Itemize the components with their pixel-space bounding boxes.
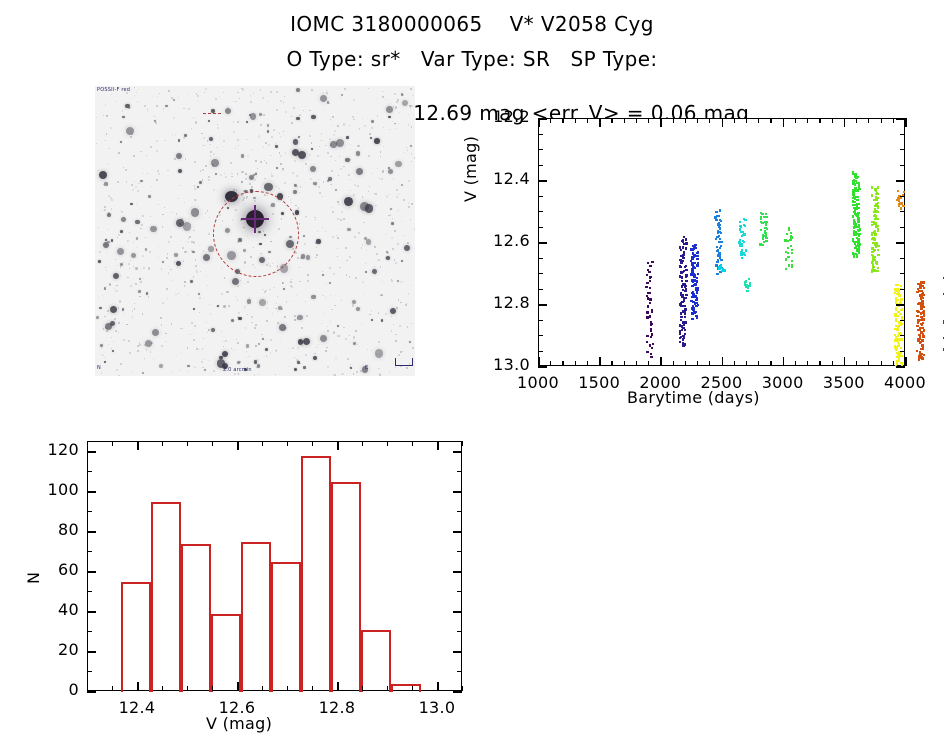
- sky-noise-pixel: [245, 327, 247, 329]
- lightcurve-xtick-minor-top: [697, 118, 698, 123]
- lightcurve-data-point: [721, 270, 723, 272]
- lightcurve-xtick-minor: [575, 361, 576, 366]
- sky-noise-pixel: [414, 157, 415, 158]
- field-star: [401, 260, 403, 262]
- sky-noise-pixel: [208, 233, 210, 235]
- sky-noise-pixel: [277, 322, 279, 324]
- sky-noise-pixel: [115, 101, 116, 102]
- sky-noise-pixel: [256, 176, 257, 177]
- lightcurve-data-point: [923, 287, 925, 289]
- sky-noise-pixel: [363, 222, 365, 224]
- lightcurve-ytick-minor-right: [900, 165, 905, 166]
- sky-noise-pixel: [138, 89, 139, 90]
- lightcurve-data-point: [877, 249, 879, 251]
- sky-noise-pixel: [223, 92, 225, 94]
- lightcurve-xtick-minor: [746, 361, 747, 366]
- lightcurve-data-point: [685, 294, 687, 296]
- sky-noise-pixel: [205, 213, 206, 214]
- sky-noise-pixel: [113, 327, 114, 328]
- field-star: [335, 189, 337, 191]
- lightcurve-data-point: [696, 255, 698, 257]
- sky-noise-pixel: [331, 170, 333, 172]
- sky-noise-pixel: [182, 247, 184, 249]
- sky-noise-pixel: [104, 209, 106, 211]
- sky-noise-pixel: [170, 236, 172, 238]
- sky-noise-pixel: [118, 375, 120, 376]
- field-star: [371, 120, 373, 122]
- field-star: [208, 246, 213, 251]
- sky-noise-pixel: [370, 130, 371, 131]
- lightcurve-xtick-minor-top: [673, 118, 674, 123]
- lightcurve-ytick-minor-right: [900, 149, 905, 150]
- sky-noise-pixel: [249, 183, 251, 185]
- field-star: [117, 248, 124, 255]
- field-star: [350, 367, 352, 369]
- lightcurve-xtick-minor-top: [636, 118, 637, 123]
- sky-noise-pixel: [135, 186, 137, 188]
- lightcurve-data-point: [694, 267, 696, 269]
- lightcurve-data-point: [899, 294, 901, 296]
- field-star: [142, 372, 144, 374]
- sky-noise-pixel: [398, 354, 400, 356]
- sky-noise-pixel: [280, 136, 281, 137]
- sky-noise-pixel: [408, 206, 410, 208]
- lightcurve-data-point: [871, 271, 873, 273]
- field-star: [375, 349, 384, 358]
- sky-noise-pixel: [408, 124, 410, 126]
- sky-noise-pixel: [131, 184, 133, 186]
- sky-noise-pixel: [414, 228, 415, 230]
- sky-noise-pixel: [341, 211, 343, 213]
- sky-noise-pixel: [187, 295, 188, 296]
- lightcurve-data-point: [877, 211, 879, 213]
- sky-noise-pixel: [251, 322, 252, 323]
- sky-noise-pixel: [284, 182, 285, 183]
- field-star: [178, 139, 180, 141]
- sky-noise-pixel: [394, 259, 396, 261]
- sky-noise-pixel: [209, 304, 210, 305]
- lightcurve-data-point: [922, 339, 924, 341]
- sky-noise-pixel: [357, 344, 358, 345]
- sky-noise-pixel: [270, 155, 271, 156]
- lightcurve-data-point: [922, 306, 924, 308]
- sky-noise-pixel: [380, 151, 382, 153]
- field-star: [313, 182, 317, 186]
- field-star: [193, 308, 195, 310]
- sky-noise-pixel: [280, 100, 282, 102]
- lightcurve-data-point: [719, 209, 721, 211]
- sky-noise-pixel: [146, 349, 148, 351]
- lightcurve-data-point: [875, 193, 877, 195]
- field-star: [203, 254, 210, 261]
- sky-noise-pixel: [387, 196, 389, 198]
- sky-noise-pixel: [391, 237, 393, 239]
- field-star: [386, 251, 388, 253]
- lightcurve-data-point: [761, 222, 763, 224]
- sky-noise-pixel: [369, 186, 370, 187]
- sky-noise-pixel: [396, 318, 397, 319]
- sky-noise-pixel: [145, 237, 147, 239]
- sky-noise-pixel: [322, 295, 324, 297]
- histogram-xtick-minor: [387, 686, 388, 691]
- sky-noise-pixel: [292, 347, 294, 349]
- field-star: [259, 113, 262, 116]
- sky-noise-pixel: [406, 303, 407, 304]
- field-star: [298, 151, 306, 159]
- sky-noise-pixel: [394, 230, 396, 232]
- field-star: [238, 317, 241, 320]
- sky-noise-pixel: [102, 210, 103, 211]
- lightcurve-data-point: [685, 288, 687, 290]
- sky-noise-pixel: [307, 280, 308, 281]
- lightcurve-xtick-minor: [893, 361, 894, 366]
- lightcurve-data-point: [877, 245, 879, 247]
- sky-noise-pixel: [297, 347, 299, 349]
- lightcurve-data-point: [691, 262, 693, 264]
- sky-noise-pixel: [148, 267, 150, 269]
- histogram-xtick-minor: [312, 686, 313, 691]
- lightcurve-data-point: [650, 324, 652, 326]
- sky-noise-pixel: [153, 359, 154, 360]
- sky-noise-pixel: [201, 359, 202, 360]
- sky-noise-pixel: [368, 155, 370, 157]
- lightcurve-data-point: [745, 249, 747, 251]
- lightcurve-data-point: [871, 187, 873, 189]
- field-star: [258, 343, 260, 345]
- sky-noise-pixel: [204, 358, 206, 360]
- lightcurve-ytick-major-right: [896, 118, 905, 120]
- sky-noise-pixel: [207, 140, 209, 142]
- sky-noise-pixel: [108, 148, 109, 149]
- lightcurve-data-point: [760, 229, 762, 231]
- lightcurve-data-point: [680, 272, 682, 274]
- sky-noise-pixel: [375, 193, 377, 195]
- sky-noise-pixel: [125, 169, 127, 171]
- lightcurve-ytick-major: [538, 180, 547, 182]
- field-star: [329, 282, 331, 284]
- sky-noise-pixel: [103, 328, 105, 330]
- field-star: [241, 154, 244, 157]
- lightcurve-data-point: [649, 276, 651, 278]
- lightcurve-xtick-label: 1500: [573, 373, 625, 392]
- sky-noise-pixel: [246, 351, 247, 352]
- lightcurve-xtick-major: [599, 357, 601, 366]
- lightcurve-xtick-label: 1000: [512, 373, 564, 392]
- sky-noise-pixel: [238, 145, 240, 147]
- sky-noise-pixel: [348, 174, 350, 176]
- lightcurve-data-point: [691, 285, 693, 287]
- lightcurve-data-point: [746, 290, 748, 292]
- lightcurve-data-point: [650, 329, 652, 331]
- sky-noise-pixel: [254, 374, 256, 376]
- sky-noise-pixel: [117, 237, 118, 238]
- sky-noise-pixel: [184, 285, 186, 287]
- sky-noise-pixel: [329, 267, 331, 269]
- sky-noise-pixel: [255, 160, 256, 161]
- sky-noise-pixel: [161, 345, 163, 347]
- field-star: [131, 253, 136, 258]
- sky-noise-pixel: [396, 307, 398, 309]
- sky-noise-pixel: [210, 313, 212, 315]
- sky-noise-pixel: [246, 357, 247, 358]
- sky-noise-pixel: [378, 341, 380, 343]
- field-star: [346, 136, 349, 139]
- sky-noise-pixel: [265, 142, 267, 144]
- sky-noise-pixel: [297, 186, 298, 187]
- lightcurve-data-point: [900, 338, 902, 340]
- histogram-ytick-major-right: [453, 691, 462, 693]
- lightcurve-data-point: [897, 190, 899, 192]
- lightcurve-data-point: [647, 292, 649, 294]
- sky-noise-pixel: [165, 333, 167, 335]
- sky-noise-pixel: [165, 341, 166, 342]
- lightcurve-data-point: [720, 241, 722, 243]
- sky-noise-pixel: [269, 289, 271, 291]
- lightcurve-ytick-minor: [538, 320, 543, 321]
- lightcurve-data-point: [787, 247, 789, 249]
- lightcurve-data-point: [649, 302, 651, 304]
- sky-noise-pixel: [185, 158, 187, 160]
- field-star: [96, 316, 99, 319]
- histogram-xtick-minor: [362, 686, 363, 691]
- field-star: [370, 137, 372, 139]
- lightcurve-data-point: [760, 218, 762, 220]
- lightcurve-data-point: [692, 249, 694, 251]
- sky-noise-pixel: [197, 101, 198, 102]
- sky-noise-pixel: [266, 340, 267, 341]
- histogram-bar: [331, 482, 361, 692]
- lightcurve-xtick-label: 3000: [757, 373, 809, 392]
- field-star: [391, 222, 394, 225]
- sky-noise-pixel: [318, 344, 319, 345]
- sky-noise-pixel: [111, 94, 112, 95]
- sky-noise-pixel: [133, 266, 134, 267]
- lightcurve-data-point: [871, 195, 873, 197]
- sky-noise-pixel: [321, 140, 322, 141]
- sky-noise-pixel: [339, 156, 340, 157]
- sky-noise-pixel: [111, 208, 113, 210]
- sky-noise-pixel: [148, 296, 149, 297]
- sky-noise-pixel: [412, 105, 413, 106]
- east-label: E: [365, 365, 368, 371]
- lightcurve-data-point: [920, 323, 922, 325]
- lightcurve-data-point: [765, 223, 767, 225]
- sky-noise-pixel: [362, 196, 363, 197]
- lightcurve-xtick-minor: [685, 361, 686, 366]
- field-star: [99, 307, 101, 309]
- lightcurve-data-point: [741, 235, 743, 237]
- sky-noise-pixel: [190, 334, 191, 335]
- sky-noise-pixel: [368, 191, 369, 192]
- lightcurve-data-point: [856, 196, 858, 198]
- sky-noise-pixel: [326, 283, 327, 284]
- lightcurve-data-point: [685, 247, 687, 249]
- lightcurve-xtick-label: 4000: [879, 373, 931, 392]
- sky-noise-pixel: [377, 260, 378, 261]
- field-star: [327, 101, 329, 103]
- sky-noise-pixel: [235, 147, 237, 149]
- lightcurve-ytick-minor-right: [900, 258, 905, 259]
- sky-noise-pixel: [407, 326, 409, 328]
- sky-noise-pixel: [128, 263, 130, 265]
- lightcurve-data-point: [646, 311, 648, 313]
- sky-noise-pixel: [236, 339, 237, 340]
- sky-noise-pixel: [133, 155, 135, 157]
- sky-noise-pixel: [104, 316, 105, 317]
- lightcurve-ytick-minor: [538, 196, 543, 197]
- sky-noise-pixel: [120, 210, 121, 211]
- lightcurve-data-point: [895, 320, 897, 322]
- field-star: [165, 105, 167, 107]
- sky-noise-pixel: [290, 301, 291, 302]
- field-star: [259, 299, 266, 306]
- sky-noise-pixel: [132, 310, 134, 312]
- histogram-panel: N V (mag) 12.412.612.813.002040608010012…: [20, 432, 490, 732]
- histogram-ytick-label: 80: [25, 520, 79, 539]
- sky-noise-pixel: [300, 363, 301, 364]
- field-star: [138, 290, 141, 293]
- sky-noise-pixel: [325, 297, 326, 298]
- lightcurve-data-point: [791, 260, 793, 262]
- lightcurve-data-point: [717, 215, 719, 217]
- sky-noise-pixel: [349, 335, 350, 336]
- sky-noise-pixel: [242, 88, 244, 90]
- sky-noise-pixel: [399, 112, 401, 114]
- sky-noise-pixel: [323, 181, 325, 183]
- field-star: [107, 213, 111, 217]
- field-star: [397, 280, 399, 282]
- sky-noise-pixel: [130, 260, 131, 261]
- sky-noise-pixel: [195, 121, 197, 123]
- sky-noise-pixel: [346, 260, 347, 261]
- sky-noise-pixel: [271, 173, 272, 174]
- lightcurve-data-point: [901, 323, 903, 325]
- lightcurve-data-point: [647, 262, 649, 264]
- field-star: [295, 210, 299, 214]
- sky-noise-pixel: [175, 134, 176, 135]
- field-star: [386, 256, 390, 260]
- sky-noise-pixel: [195, 265, 197, 267]
- field-star: [120, 230, 123, 233]
- sky-noise-pixel: [392, 248, 394, 250]
- histogram-xtick-minor-top: [212, 441, 213, 446]
- lightcurve-data-point: [765, 216, 767, 218]
- lightcurve-data-point: [898, 311, 900, 313]
- lightcurve-data-point: [858, 207, 860, 209]
- sky-noise-pixel: [333, 332, 335, 334]
- sky-noise-pixel: [245, 178, 247, 180]
- histogram-ytick-minor-right: [457, 471, 462, 472]
- lightcurve-data-point: [682, 338, 684, 340]
- sky-noise-pixel: [345, 338, 347, 340]
- field-star: [388, 169, 393, 174]
- lightcurve-data-point: [853, 256, 855, 258]
- lightcurve-data-point: [716, 246, 718, 248]
- sky-noise-pixel: [134, 308, 136, 310]
- sky-noise-pixel: [188, 108, 190, 110]
- sky-noise-pixel: [291, 279, 292, 280]
- field-star: [356, 168, 363, 175]
- field-star: [303, 366, 306, 369]
- field-star: [176, 261, 181, 266]
- sky-noise-pixel: [325, 145, 327, 147]
- sky-noise-pixel: [406, 367, 408, 369]
- sky-noise-pixel: [395, 340, 396, 341]
- sky-noise-pixel: [297, 257, 299, 259]
- lightcurve-data-point: [920, 308, 922, 310]
- sky-noise-pixel: [255, 324, 256, 325]
- sky-noise-pixel: [377, 168, 378, 169]
- sky-noise-pixel: [105, 104, 107, 106]
- sky-noise-pixel: [395, 262, 396, 263]
- lightcurve-data-point: [685, 242, 687, 244]
- lightcurve-xtick-minor-top: [819, 118, 820, 123]
- sky-noise-pixel: [290, 281, 292, 283]
- field-star: [347, 228, 350, 231]
- lightcurve-data-point: [696, 258, 698, 260]
- sky-noise-pixel: [120, 363, 122, 365]
- sky-noise-pixel: [257, 359, 258, 360]
- lightcurve-data-point: [691, 296, 693, 298]
- field-star: [121, 217, 126, 222]
- lightcurve-data-point: [680, 261, 682, 263]
- sky-noise-pixel: [396, 196, 398, 198]
- lightcurve-data-point: [681, 325, 683, 327]
- lightcurve-data-point: [922, 281, 924, 283]
- sky-noise-pixel: [132, 372, 133, 373]
- sky-noise-pixel: [371, 310, 373, 312]
- sky-noise-pixel: [266, 355, 268, 357]
- lightcurve-data-point: [856, 176, 858, 178]
- sky-noise-pixel: [223, 140, 225, 142]
- lightcurve-xtick-major-top: [722, 118, 724, 127]
- sky-noise-pixel: [115, 259, 116, 260]
- sky-noise-pixel: [98, 297, 99, 298]
- sky-noise-pixel: [275, 308, 277, 310]
- lightcurve-data-point: [791, 266, 793, 268]
- sky-noise-pixel: [285, 111, 287, 113]
- field-star: [292, 149, 299, 156]
- sky-noise-pixel: [267, 302, 268, 303]
- lightcurve-xtick-minor: [819, 361, 820, 366]
- lightcurve-data-point: [900, 355, 902, 357]
- sky-noise-pixel: [299, 192, 300, 193]
- sky-noise-pixel: [172, 135, 173, 136]
- lightcurve-ytick-minor-right: [900, 335, 905, 336]
- lightcurve-xtick-minor-top: [856, 118, 857, 123]
- lightcurve-ytick-minor-right: [900, 289, 905, 290]
- sky-noise-pixel: [305, 354, 307, 356]
- sky-noise-pixel: [394, 93, 396, 95]
- sky-noise-pixel: [186, 241, 187, 242]
- sky-noise-pixel: [263, 146, 265, 148]
- sky-noise-pixel: [204, 92, 206, 94]
- sky-noise-pixel: [356, 371, 358, 373]
- sky-noise-pixel: [400, 351, 402, 353]
- lightcurve-xtick-label: 2500: [696, 373, 748, 392]
- sky-noise-pixel: [195, 199, 197, 201]
- sky-noise-pixel: [374, 246, 375, 247]
- histogram-ytick-major-right: [453, 451, 462, 453]
- lightcurve-data-point: [684, 312, 686, 314]
- sky-noise-pixel: [305, 216, 306, 217]
- sky-noise-pixel: [337, 201, 339, 203]
- field-star: [262, 338, 264, 340]
- sky-noise-pixel: [398, 123, 399, 124]
- lightcurve-xtick-minor: [648, 361, 649, 366]
- field-star: [130, 203, 132, 205]
- sky-noise-pixel: [316, 347, 317, 348]
